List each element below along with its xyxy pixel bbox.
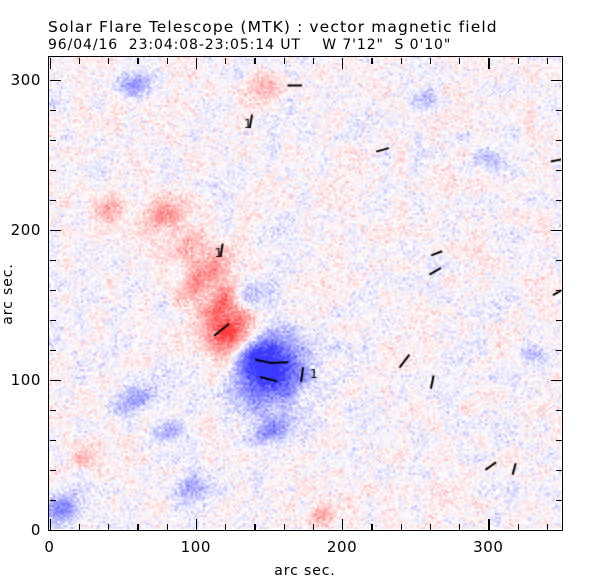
y-tick-right [556,260,562,261]
y-tick-right [556,350,562,351]
y-tick-left [50,170,56,171]
figure-subtitle: 96/04/16 23:04:08-23:05:14 UT W 7'12" S … [48,37,451,53]
x-tick-top [488,58,489,69]
x-tick-bottom [50,519,51,530]
x-tick-bottom [547,524,548,530]
x-tick-bottom [371,524,372,530]
y-tick-right [556,200,562,201]
y-tick-right [551,80,562,81]
magnetogram-figure: Solar Flare Telescope (MTK) : vector mag… [0,0,612,585]
y-tick-right [556,410,562,411]
x-tick-top [401,58,402,64]
figure-title: Solar Flare Telescope (MTK) : vector mag… [48,18,498,36]
x-tick-top [284,58,285,64]
x-tick-top [196,58,197,69]
x-tick-top [313,58,314,64]
x-tick-top [459,58,460,64]
x-tick-top [137,58,138,64]
x-tick-top [547,58,548,64]
x-tick-top [430,58,431,64]
y-tick-right [556,500,562,501]
x-tick-bottom [518,524,519,530]
x-tick-bottom [342,519,343,530]
x-tick-bottom [225,524,226,530]
y-tick-label: 200 [11,221,41,239]
x-tick-bottom [167,524,168,530]
x-tick-top [342,58,343,69]
y-tick-right [551,230,562,231]
y-tick-right [556,320,562,321]
y-tick-label: 300 [11,71,41,89]
x-tick-bottom [196,519,197,530]
x-tick-top [50,58,51,69]
y-tick-left [50,350,56,351]
x-tick-bottom [430,524,431,530]
y-tick-left [50,80,61,81]
x-tick-bottom [284,524,285,530]
y-tick-right [556,440,562,441]
y-tick-left [50,380,61,381]
y-tick-left [50,440,56,441]
x-tick-top [108,58,109,64]
y-tick-left [50,410,56,411]
x-tick-top [254,58,255,64]
x-tick-top [518,58,519,64]
y-axis-title: arc sec. [0,263,16,324]
y-tick-left [50,290,56,291]
y-tick-label: 0 [31,521,41,539]
y-tick-right [556,470,562,471]
y-tick-left [50,320,56,321]
x-tick-bottom [313,524,314,530]
x-tick-label: 0 [44,538,54,556]
y-tick-right [551,380,562,381]
y-tick-left [50,230,61,231]
y-tick-right [556,140,562,141]
y-tick-left [50,260,56,261]
x-tick-bottom [137,524,138,530]
x-tick-bottom [401,524,402,530]
magnetogram-image [49,57,561,529]
x-tick-top [79,58,80,64]
x-tick-top [225,58,226,64]
x-tick-top [167,58,168,64]
y-tick-left [50,470,56,471]
y-tick-left [50,530,61,531]
x-tick-bottom [459,524,460,530]
x-tick-bottom [254,524,255,530]
x-tick-top [371,58,372,64]
x-axis-title: arc sec. [274,563,335,579]
y-tick-left [50,110,56,111]
y-tick-right [551,530,562,531]
x-tick-bottom [488,519,489,530]
x-tick-label: 300 [473,538,503,556]
y-tick-label: 100 [11,371,41,389]
x-tick-bottom [108,524,109,530]
y-tick-left [50,500,56,501]
x-tick-bottom [79,524,80,530]
x-tick-label: 200 [327,538,357,556]
y-tick-right [556,170,562,171]
y-tick-right [556,110,562,111]
plot-area [48,56,563,531]
x-tick-label: 100 [181,538,211,556]
y-tick-left [50,140,56,141]
y-tick-right [556,290,562,291]
y-tick-left [50,200,56,201]
